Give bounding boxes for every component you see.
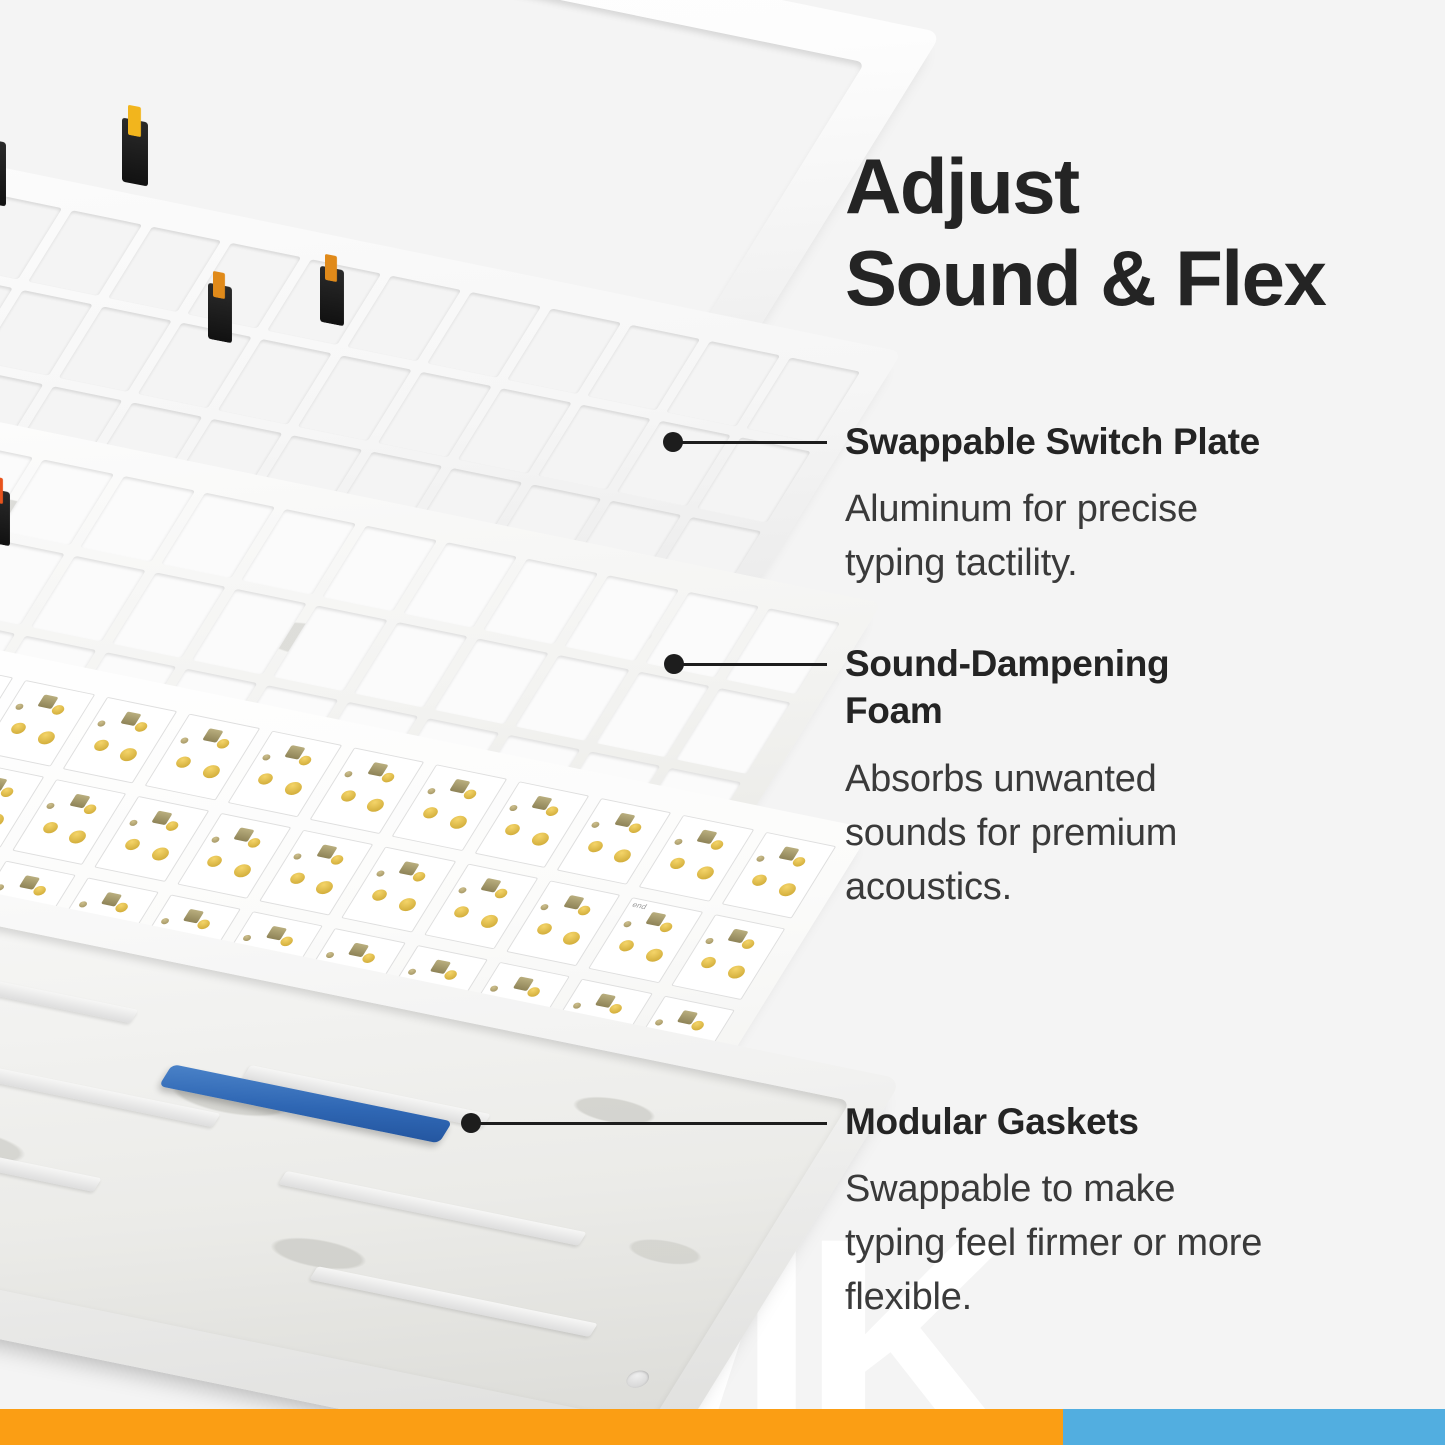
feature-sound-dampening-foam: Sound-Dampening Foam Absorbs unwanted so… <box>845 640 1265 915</box>
switch-stem-cross <box>325 254 337 282</box>
feature-modular-gaskets: Modular Gaskets Swappable to make typing… <box>845 1098 1265 1325</box>
feature-body: Absorbs unwanted sounds for premium acou… <box>845 753 1265 915</box>
feature-body: Swappable to make typing feel firmer or … <box>845 1163 1265 1325</box>
switch-stem <box>0 137 6 206</box>
switch-stem-cross <box>0 476 3 504</box>
leader-line-switch-plate <box>667 432 827 452</box>
bottom-accent-bar <box>0 1409 1445 1445</box>
text-column: Adjust Sound & Flex Swappable Switch Pla… <box>845 0 1420 1445</box>
leader-line-gaskets <box>465 1113 827 1133</box>
feature-title: Modular Gaskets <box>845 1098 1265 1145</box>
leader-stroke <box>668 663 827 666</box>
pcb-silk-label: end <box>631 900 649 910</box>
feature-title: Sound-Dampening Foam <box>845 640 1265 735</box>
leader-line-foam <box>668 654 827 674</box>
bottom-bar-orange-segment <box>0 1409 1063 1445</box>
switch-stem-cross <box>128 105 141 138</box>
page-title: Adjust Sound & Flex <box>845 140 1420 324</box>
infographic-canvas: MMK <box>0 0 1445 1445</box>
headline-line-1: Adjust <box>845 140 1420 232</box>
bottom-bar-blue-segment <box>1063 1409 1445 1445</box>
switch-stem-cross <box>213 271 225 299</box>
leader-stroke <box>465 1122 827 1125</box>
leader-stroke <box>667 441 827 444</box>
headline-line-2: Sound & Flex <box>845 232 1420 324</box>
feature-body: Aluminum for precise typing tactility. <box>845 483 1265 591</box>
feature-swappable-switch-plate: Swappable Switch Plate Aluminum for prec… <box>845 418 1265 591</box>
feature-title: Swappable Switch Plate <box>845 418 1265 465</box>
product-exploded-view-image: shift end ctrl <box>0 0 870 1445</box>
